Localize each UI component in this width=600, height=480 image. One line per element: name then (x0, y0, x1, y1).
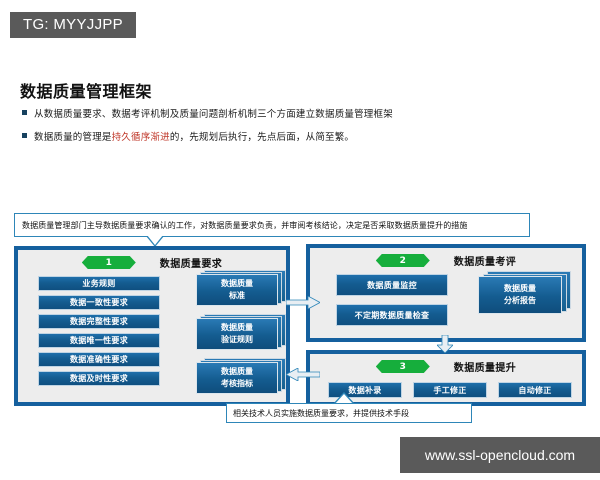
tg-watermark-badge: TG: MYYJJPP (10, 12, 136, 38)
panel-1-title: 数据质量要求 (160, 255, 222, 270)
callout-top-tail-inner (147, 235, 163, 245)
tg-watermark-text: TG: MYYJJPP (23, 16, 123, 33)
callout-bottom: 相关技术人员实施数据质量要求，并提供技术手段 (226, 403, 472, 423)
stack-card-line2: 验证规则 (221, 334, 253, 346)
callout-top-text: 数据质量管理部门主导数据质量要求确认的工作，对数据质量要求负责，并审阅考核结论，… (22, 220, 468, 231)
panel-3-number-badge: 3 (376, 360, 430, 373)
slide-title: 数据质量管理框架 (20, 78, 152, 102)
panel-data-quality-requirements: 1 数据质量要求 业务规则 数据一致性要求 数据完整性要求 数据唯一性要求 数据… (14, 246, 290, 406)
panel-2-number-badge: 2 (376, 254, 430, 267)
bullet-square-icon (22, 110, 27, 115)
callout-bottom-text: 相关技术人员实施数据质量要求，并提供技术手段 (233, 408, 409, 419)
panel-1-item-5[interactable]: 数据准确性要求 (38, 352, 160, 367)
panel-2-item-2[interactable]: 不定期数据质量检查 (336, 304, 448, 326)
panel-3-item-2[interactable]: 手工修正 (413, 382, 487, 398)
bullet-item-1: 从数据质量要求、数据考评机制及质量问题剖析机制三个方面建立数据质量管理框架 (22, 106, 522, 120)
stack-card-front: 数据质量 标准 (196, 274, 278, 306)
bullet-item-2: 数据质量的管理是 持久循序渐进 的，先规划后执行，先点后面，从简至繁。 (22, 129, 522, 143)
panel-3-title: 数据质量提升 (454, 359, 516, 374)
bullet-list: 从数据质量要求、数据考评机制及质量问题剖析机制三个方面建立数据质量管理框架 数据… (22, 106, 522, 152)
panel-2-item-column: 数据质量监控 不定期数据质量检查 (336, 274, 448, 334)
url-watermark-text: www.ssl-opencloud.com (425, 447, 575, 463)
slide-canvas: 数据质量管理框架 从数据质量要求、数据考评机制及质量问题剖析机制三个方面建立数据… (0, 58, 600, 418)
bullet-highlight-text: 持久循序渐进 (112, 129, 170, 143)
arrow-right-icon (286, 296, 320, 309)
panel-1-header: 1 数据质量要求 (18, 255, 286, 270)
stack-card-line2: 考核指标 (221, 378, 253, 390)
panel-1-item-2[interactable]: 数据一致性要求 (38, 295, 160, 310)
arrow-left-icon (286, 368, 320, 381)
panel-1-item-6[interactable]: 数据及时性要求 (38, 371, 160, 386)
panel-3-header: 3 数据质量提升 (310, 359, 582, 374)
bullet-text-2a: 数据质量的管理是 (34, 129, 112, 143)
panel-2-title: 数据质量考评 (454, 253, 516, 268)
panel-2-header: 2 数据质量考评 (310, 253, 582, 268)
panel-1-item-column: 业务规则 数据一致性要求 数据完整性要求 数据唯一性要求 数据准确性要求 数据及… (38, 276, 160, 390)
stack-card-front: 数据质量 分析报告 (478, 276, 562, 314)
stack-card-line1: 数据质量 (221, 366, 253, 378)
panel-2-item-1[interactable]: 数据质量监控 (336, 274, 448, 296)
stack-card-line2: 标准 (229, 290, 245, 302)
panel-1-number-badge: 1 (82, 256, 136, 269)
url-watermark-bar: www.ssl-opencloud.com (400, 437, 600, 473)
stack-card-line2: 分析报告 (504, 295, 536, 307)
bullet-square-icon (22, 133, 27, 138)
stack-card-front: 数据质量 验证规则 (196, 318, 278, 350)
panel-1-stack-card-3[interactable]: 数据质量 考核指标 (196, 362, 278, 394)
panel-1-item-4[interactable]: 数据唯一性要求 (38, 333, 160, 348)
panel-3-item-3[interactable]: 自动修正 (498, 382, 572, 398)
stack-card-line1: 数据质量 (221, 278, 253, 290)
panel-1-stack-card-2[interactable]: 数据质量 验证规则 (196, 318, 278, 350)
panel-2-stack-card-1[interactable]: 数据质量 分析报告 (478, 276, 562, 314)
bullet-text-2b: 的，先规划后执行，先点后面，从简至繁。 (170, 129, 354, 143)
stack-card-line1: 数据质量 (221, 322, 253, 334)
stack-card-line1: 数据质量 (504, 283, 536, 295)
stack-card-front: 数据质量 考核指标 (196, 362, 278, 394)
arrow-down-icon (437, 335, 453, 353)
panel-1-stack-card-1[interactable]: 数据质量 标准 (196, 274, 278, 306)
panel-1-item-1[interactable]: 业务规则 (38, 276, 160, 291)
panel-1-item-3[interactable]: 数据完整性要求 (38, 314, 160, 329)
callout-top: 数据质量管理部门主导数据质量要求确认的工作，对数据质量要求负责，并审阅考核结论，… (14, 213, 530, 237)
panel-3-item-row: 数据补录 手工修正 自动修正 (328, 382, 572, 398)
panel-data-quality-assessment: 2 数据质量考评 数据质量监控 不定期数据质量检查 数据质量 分析报告 (306, 244, 586, 342)
bullet-text-1: 从数据质量要求、数据考评机制及质量问题剖析机制三个方面建立数据质量管理框架 (34, 106, 393, 120)
